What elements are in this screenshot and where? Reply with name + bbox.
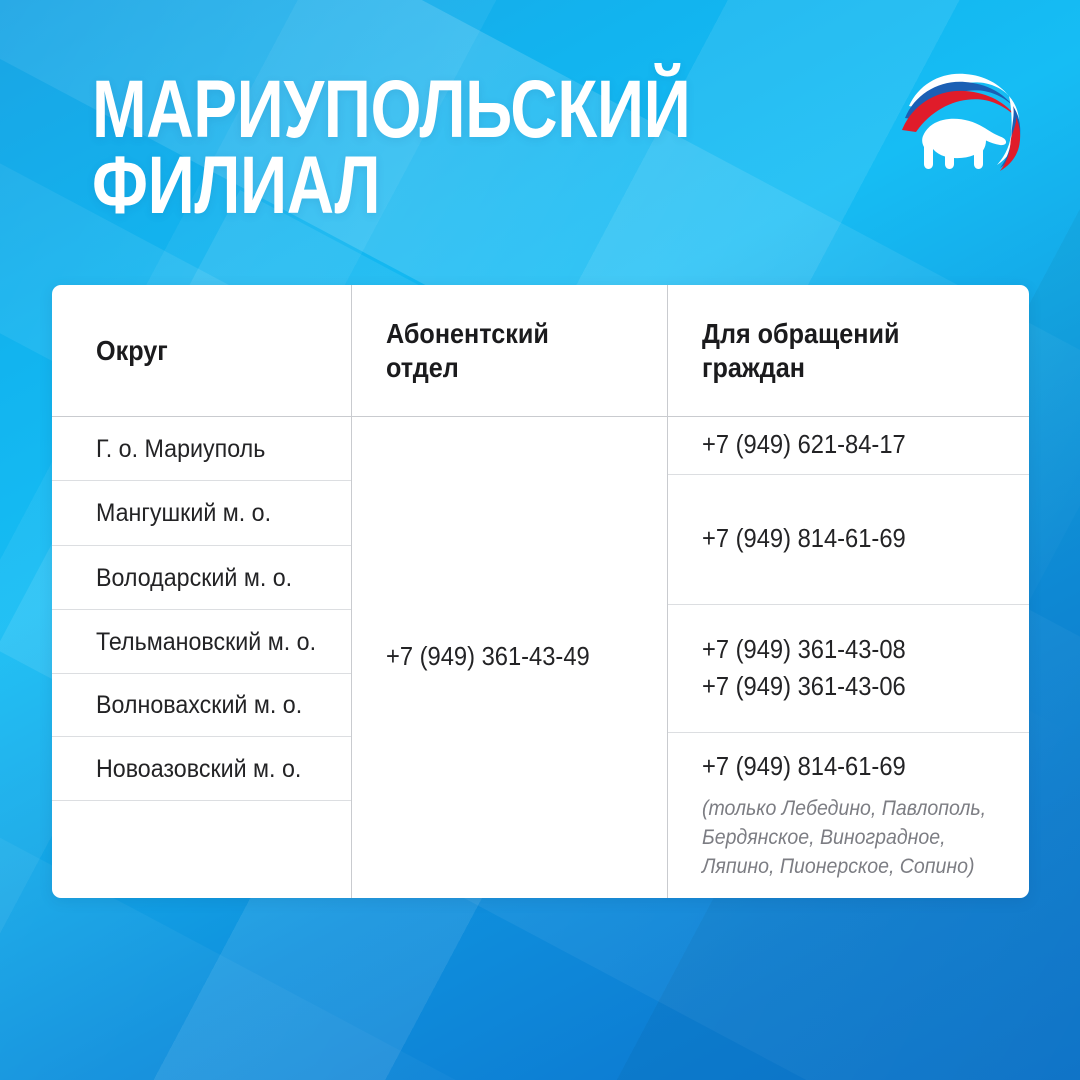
table-column-districts: Округ Г. о. Мариуполь Мангушкий м. о. Во…: [52, 285, 351, 898]
citizen-request-cell: +7 (949) 814-61-69: [668, 475, 1029, 605]
page-title: МАРИУПОЛЬСКИЙ ФИЛИАЛ: [92, 72, 668, 225]
table-row-empty: [52, 801, 351, 898]
citizen-request-cell: +7 (949) 361-43-08 +7 (949) 361-43-06: [668, 605, 1029, 733]
citizen-request-cell: +7 (949) 814-61-69 (только Лебедино, Пав…: [668, 733, 1029, 898]
district-name: Мангушкий м. о.: [96, 497, 333, 529]
phone-number[interactable]: +7 (949) 621-84-17: [702, 427, 1006, 463]
subscriber-department-cell: +7 (949) 361-43-49: [352, 417, 667, 898]
district-name: Волновахский м. о.: [96, 689, 333, 721]
table-row: Тельмановский м. о.: [52, 610, 351, 674]
table-row: Новоазовский м. о.: [52, 737, 351, 801]
phone-number[interactable]: +7 (949) 361-43-49: [386, 639, 590, 675]
table-row: Мангушкий м. о.: [52, 481, 351, 546]
coverage-note: (только Лебедино, Павлополь, Бердянское,…: [702, 794, 1006, 882]
district-name: Тельмановский м. о.: [96, 626, 333, 658]
background-band-4: [0, 880, 1080, 1080]
table-row: Волновахский м. о.: [52, 674, 351, 737]
district-name: Володарский м. о.: [96, 562, 333, 594]
header-label-citizen-requests: Для обращений граждан: [702, 317, 900, 383]
table-column-citizen-requests: Для обращений граждан +7 (949) 621-84-17…: [667, 285, 1029, 898]
table-header-cell: Округ: [52, 285, 351, 417]
phone-number[interactable]: +7 (949) 361-43-08: [702, 632, 1006, 668]
header-label-subscriber-department: Абонентский отдел: [386, 317, 549, 383]
district-name: Новоазовский м. о.: [96, 753, 333, 785]
table-header-cell: Абонентский отдел: [352, 285, 667, 417]
district-name: Г. о. Мариуполь: [96, 433, 333, 465]
united-russia-logo: [893, 62, 1021, 180]
infographic-canvas: МАРИУПОЛЬСКИЙ ФИЛИАЛ Округ: [0, 0, 1080, 1080]
phone-number[interactable]: +7 (949) 814-61-69: [702, 749, 1006, 785]
contacts-table: Округ Г. о. Мариуполь Мангушкий м. о. Во…: [52, 285, 1029, 898]
phone-number[interactable]: +7 (949) 361-43-06: [702, 669, 1006, 705]
table-row: Володарский м. о.: [52, 546, 351, 610]
table-column-subscriber-department: Абонентский отдел +7 (949) 361-43-49: [351, 285, 667, 898]
header-label-district: Округ: [96, 334, 168, 367]
citizen-request-cell: +7 (949) 621-84-17: [668, 417, 1029, 475]
table-header-cell: Для обращений граждан: [668, 285, 1029, 417]
table-row: Г. о. Мариуполь: [52, 417, 351, 481]
phone-number[interactable]: +7 (949) 814-61-69: [702, 521, 1006, 557]
